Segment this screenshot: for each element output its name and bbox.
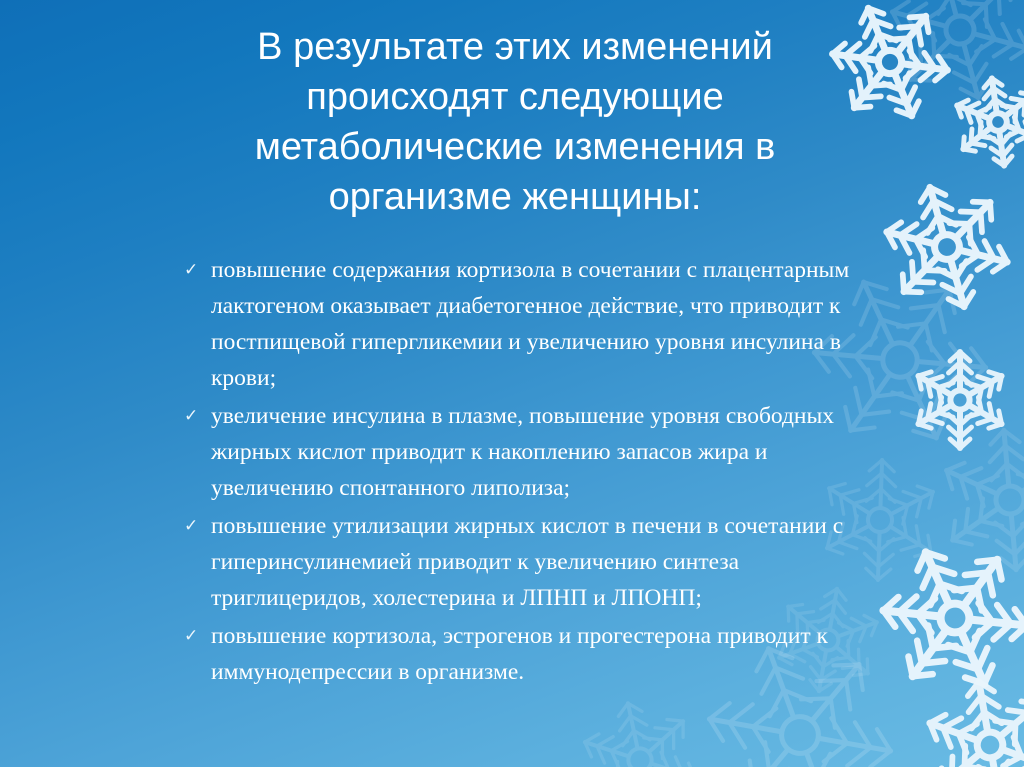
check-icon: ✓ [184,252,204,288]
bullet-item: ✓повышение утилизации жирных кислот в пе… [183,508,895,616]
bullet-list: ✓повышение содержания кортизола в сочета… [183,252,895,692]
snowflake-right-lower [876,540,1024,696]
bullet-text: повышение содержания кортизола в сочетан… [211,252,895,396]
bullet-item: ✓повышение кортизола, эстрогенов и проге… [183,618,895,690]
check-icon: ✓ [184,618,204,654]
bullet-item: ✓увеличение инсулина в плазме, повышение… [183,398,895,506]
check-icon: ✓ [184,398,204,434]
snowflake-top-right-small [941,65,1024,178]
bullet-text: повышение утилизации жирных кислот в печ… [211,508,895,616]
snowflake-ghost-right-b [917,408,1024,592]
slide-title: В результате этих изменений происходят с… [110,22,920,222]
check-icon: ✓ [184,508,204,544]
bullet-text: увеличение инсулина в плазме, повышение … [211,398,895,506]
snowflake-ghost-bottom-c [567,688,713,767]
bullet-item: ✓повышение содержания кортизола в сочета… [183,252,895,396]
snowflake-right-mid [895,335,1024,465]
bullet-text: повышение кортизола, эстрогенов и прогес… [211,618,895,690]
presentation-slide: В результате этих изменений происходят с… [0,0,1024,767]
snowflake-bottom-right [908,664,1024,767]
